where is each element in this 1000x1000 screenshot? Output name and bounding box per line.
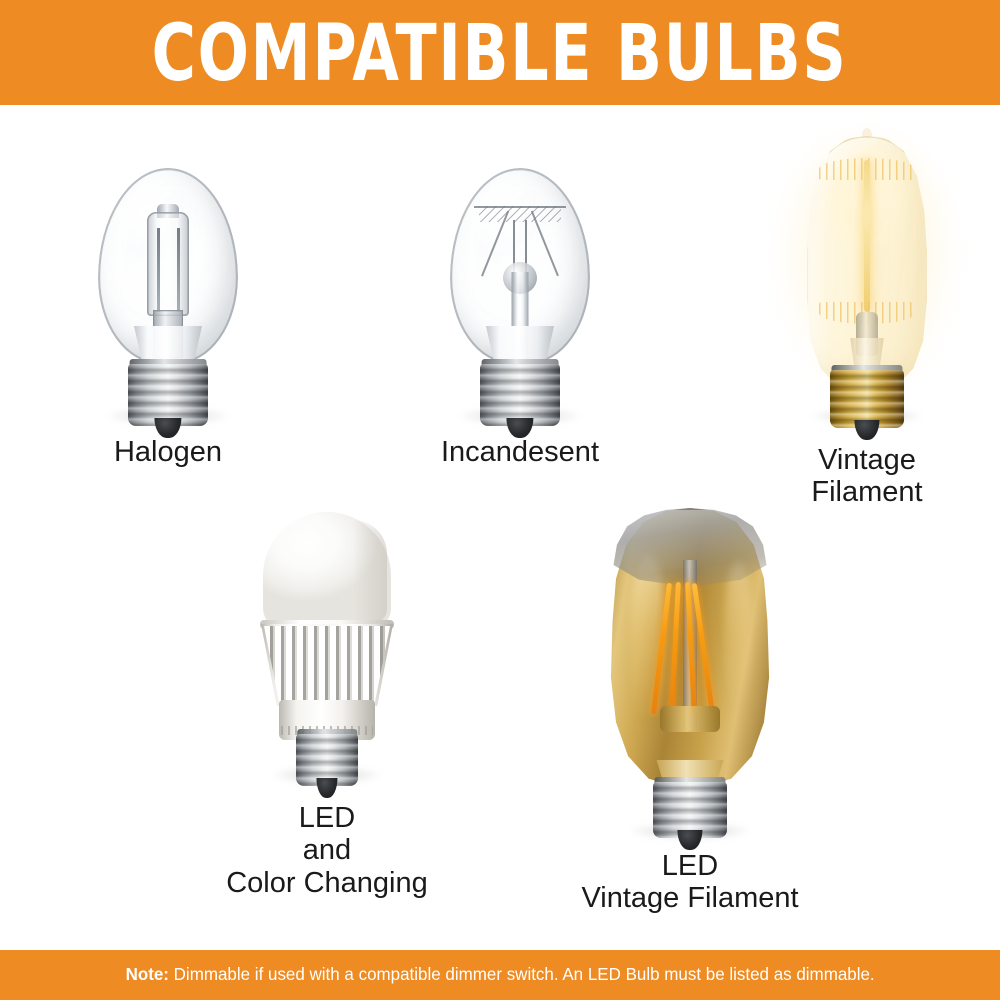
base-contact-tip [854, 420, 879, 440]
screw-base [128, 364, 208, 426]
screw-base [830, 370, 904, 428]
screw-base [480, 364, 560, 426]
halogen-bulb-icon [93, 168, 243, 420]
lead-wire-right [177, 228, 180, 312]
heatsink-fins [264, 626, 390, 702]
screw-base [296, 734, 358, 786]
bulb-card-incandescent: Incandesent [400, 168, 640, 468]
bulb-card-led: LED and Color Changing [192, 512, 462, 899]
lead-wire-left [157, 228, 160, 312]
diffuser-dome [263, 512, 391, 630]
footer-note-banner: Note: Dimmable if used with a compatible… [0, 950, 1000, 1000]
incandescent-bulb-icon [445, 168, 595, 420]
base-threads [128, 364, 208, 426]
bulb-label-led: LED and Color Changing [226, 802, 428, 899]
bulb-label-incandescent: Incandesent [441, 436, 599, 468]
bulb-label-halogen: Halogen [114, 436, 222, 468]
led-vintage-filament-bulb-icon [595, 508, 785, 838]
filament-coil [479, 206, 561, 222]
header-banner: COMPATIBLE BULBS [0, 0, 1000, 105]
halogen-capsule [147, 212, 189, 316]
bulb-label-vintage-filament: Vintage Filament [811, 444, 922, 509]
base-body [480, 364, 560, 426]
bulb-label-led-vintage-filament: LED Vintage Filament [581, 850, 798, 915]
vintage-filament-bulb-icon [792, 126, 942, 426]
bulb-card-vintage-filament: Vintage Filament [742, 126, 992, 509]
base-threads [480, 364, 560, 426]
footer-note-prefix: Note: [125, 964, 168, 984]
footer-note-body: Dimmable if used with a compatible dimme… [169, 964, 875, 984]
screw-base [653, 782, 727, 838]
page-title: COMPATIBLE BULBS [152, 15, 848, 93]
base-contact-tip [316, 778, 337, 798]
base-body [128, 364, 208, 426]
bulb-card-led-vintage-filament: LED Vintage Filament [530, 508, 850, 915]
base-contact-tip [506, 418, 533, 438]
bulb-card-halogen: Halogen [48, 168, 288, 468]
glass-rim [604, 508, 776, 790]
dome-shading [353, 520, 387, 624]
filament-stem [864, 160, 870, 312]
base-contact-tip [154, 418, 181, 438]
compatible-bulbs-poster: COMPATIBLE BULBS [0, 0, 1000, 1000]
footer-note-text: Note: Dimmable if used with a compatible… [125, 966, 874, 984]
base-contact-tip [677, 830, 702, 850]
led-bulb-icon [257, 512, 397, 780]
